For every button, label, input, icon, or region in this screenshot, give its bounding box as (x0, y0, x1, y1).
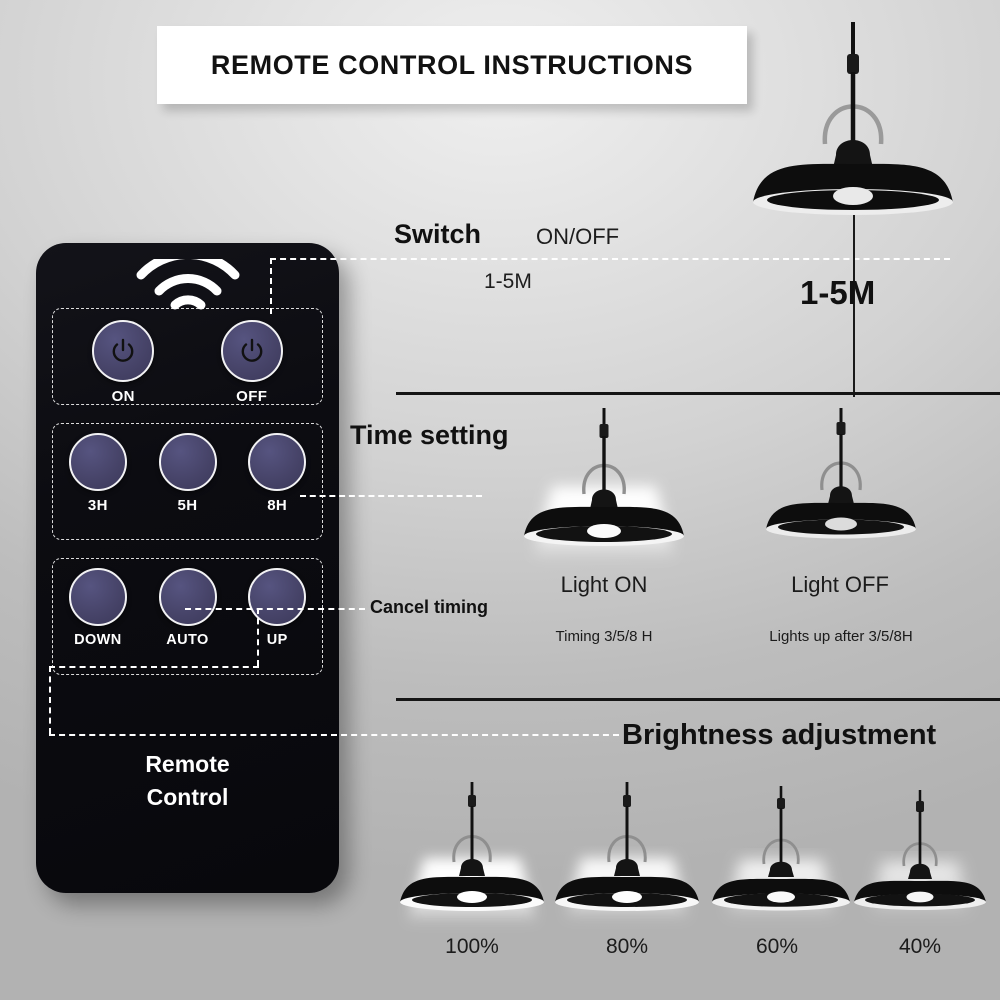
brightness-level-label: 80% (547, 935, 707, 959)
brightness-level-label: 60% (702, 935, 852, 959)
brightness-level-label: 100% (392, 935, 552, 959)
remote-button-up[interactable]: UP (232, 559, 322, 648)
connector-power-vertical (270, 258, 272, 314)
pendant-lamp-brightness-80 (549, 782, 705, 932)
pendant-lamp-top (743, 22, 963, 217)
power-icon (221, 320, 283, 382)
remote-button-label: AUTO (166, 632, 208, 648)
pendant-lamp-light-on (516, 408, 692, 573)
remote-button-label: DOWN (74, 632, 122, 648)
label-on-off: ON/OFF (536, 224, 619, 250)
brightness-level-label: 40% (845, 935, 995, 959)
remote-button-label: 3H (88, 497, 108, 514)
heading-switch: Switch (394, 219, 481, 250)
remote-button-label: 5H (178, 497, 198, 514)
round-button (159, 568, 217, 626)
remote-button-5h[interactable]: 5H (143, 424, 233, 514)
remote-button-off[interactable]: OFF (188, 309, 317, 405)
round-button (159, 433, 217, 491)
connector-brightness-vertical (257, 608, 259, 666)
divider-brightness (396, 698, 1000, 701)
remote-button-on[interactable]: ON (59, 309, 188, 405)
remote-button-8h[interactable]: 8H (232, 424, 322, 514)
connector-brightness-top (49, 666, 259, 668)
connector-timer-line (300, 495, 482, 497)
label-range-small: 1-5M (484, 270, 532, 294)
remote-button-label: 8H (267, 497, 287, 514)
pendant-lamp-light-off (758, 408, 924, 538)
remote-button-down[interactable]: DOWN (53, 559, 143, 648)
connector-brightness-left (49, 666, 51, 734)
round-button (248, 433, 306, 491)
power-icon (92, 320, 154, 382)
caption-light-off-sub: Lights up after 3/5/8H (718, 628, 964, 645)
title-banner: REMOTE CONTROL INSTRUCTIONS (157, 26, 747, 104)
remote-button-label: UP (267, 632, 288, 648)
label-cancel-timing: Cancel timing (370, 597, 488, 618)
remote-control-device: ON OFF 3H (36, 243, 339, 893)
connector-cancel-timing-line (185, 608, 365, 610)
remote-button-label: OFF (236, 388, 267, 405)
remote-brand-label: Remote Control (36, 748, 339, 813)
connector-switch-line (270, 258, 950, 260)
round-button (69, 433, 127, 491)
button-group-timer: 3H 5H 8H (52, 423, 323, 540)
button-group-power: ON OFF (52, 308, 323, 405)
remote-button-label: ON (112, 388, 135, 405)
pendant-lamp-brightness-60 (706, 786, 856, 932)
instruction-poster: REMOTE CONTROL INSTRUCTIONS (0, 0, 1000, 1000)
pendant-lamp-brightness-100 (394, 782, 550, 932)
caption-light-on: Light ON (504, 572, 704, 598)
divider-time-setting (396, 392, 1000, 395)
connector-brightness-line (49, 734, 619, 736)
pendant-lamp-brightness-40 (848, 790, 992, 932)
caption-light-off: Light OFF (740, 572, 940, 598)
round-button (69, 568, 127, 626)
label-range-big: 1-5M (800, 274, 875, 312)
remote-button-auto[interactable]: AUTO (143, 559, 233, 648)
remote-button-3h[interactable]: 3H (53, 424, 143, 514)
heading-brightness-adjustment: Brightness adjustment (622, 719, 936, 752)
page-title: REMOTE CONTROL INSTRUCTIONS (211, 50, 693, 81)
button-group-brightness: DOWN AUTO UP (52, 558, 323, 675)
heading-time-setting: Time setting (350, 420, 509, 451)
caption-light-on-sub: Timing 3/5/8 H (504, 628, 704, 645)
